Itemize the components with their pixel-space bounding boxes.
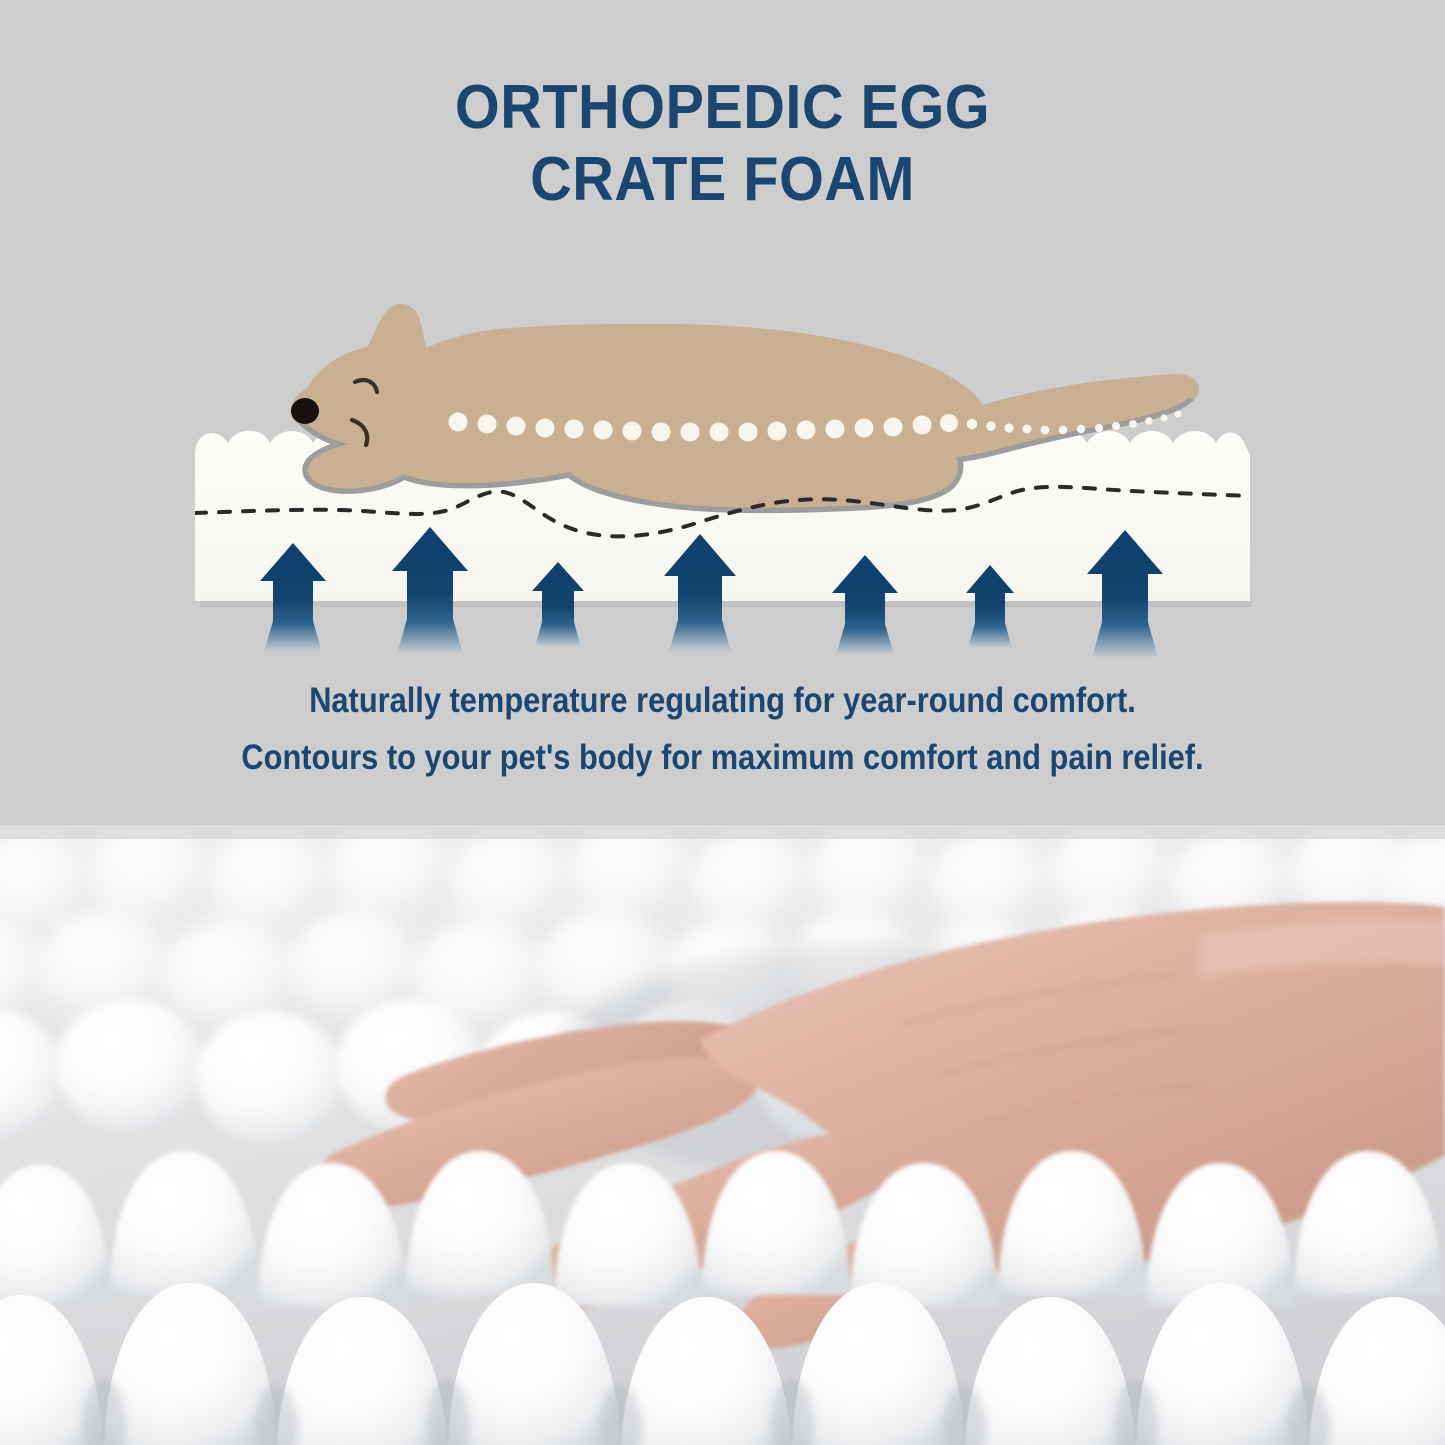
info-panel: ORTHOPEDIC EGGCRATE FOAM [0,0,1445,825]
caption-line-2: Contours to your pet's body for maximum … [87,729,1359,786]
product-infographic: ORTHOPEDIC EGGCRATE FOAM [0,0,1445,1445]
foam-photo [0,825,1445,1445]
egg-crate-photo-illustration [0,825,1445,1445]
dog-nose [291,398,319,424]
feature-caption: Naturally temperature regulating for yea… [87,672,1359,786]
caption-line-1: Naturally temperature regulating for yea… [87,672,1359,729]
